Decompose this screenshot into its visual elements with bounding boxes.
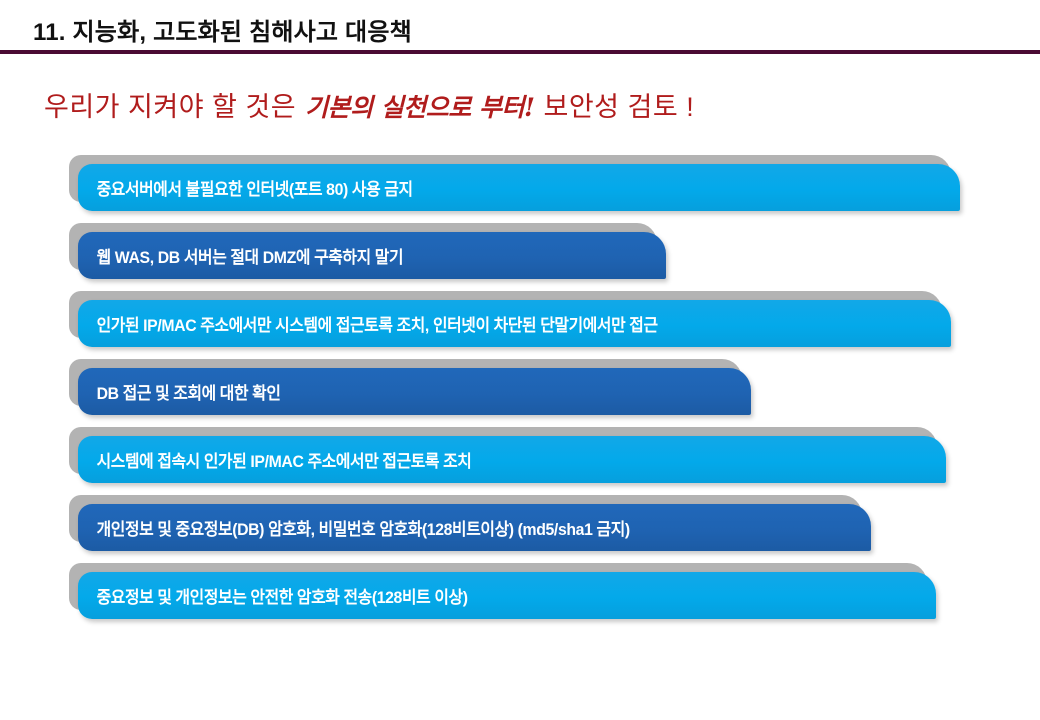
bullet-bar[interactable]: 인가된 IP/MAC 주소에서만 시스템에 접근토록 조치, 인터넷이 차단된 … (69, 291, 942, 349)
bullet-bar[interactable]: 중요정보 및 개인정보는 안전한 암호화 전송(128비트 이상) (69, 563, 927, 621)
bullet-bar[interactable]: DB 접근 및 조회에 대한 확인 (69, 359, 742, 417)
bullet-bar-body[interactable]: 웹 WAS, DB 서버는 절대 DMZ에 구축하지 말기 (78, 232, 666, 279)
bullet-bar[interactable]: 중요서버에서 불필요한 인터넷(포트 80) 사용 금지 (69, 155, 951, 213)
bullet-bar-body[interactable]: 중요서버에서 불필요한 인터넷(포트 80) 사용 금지 (78, 164, 960, 211)
bullet-bar-label: 중요정보 및 개인정보는 안전한 암호화 전송(128비트 이상) (78, 583, 482, 608)
bar-list: 중요서버에서 불필요한 인터넷(포트 80) 사용 금지웹 WAS, DB 서버… (0, 0, 1040, 720)
bullet-bar-label: 개인정보 및 중요정보(DB) 암호화, 비밀번호 암호화(128비트이상) (… (78, 515, 645, 540)
slide-canvas: 11. 지능화, 고도화된 침해사고 대응책 우리가 지켜야 할 것은 기본의 … (0, 0, 1040, 720)
bullet-bar-label: 시스템에 접속시 인가된 IP/MAC 주소에서만 접근토록 조치 (78, 447, 486, 472)
bullet-bar[interactable]: 개인정보 및 중요정보(DB) 암호화, 비밀번호 암호화(128비트이상) (… (69, 495, 862, 553)
bullet-bar-body[interactable]: 시스템에 접속시 인가된 IP/MAC 주소에서만 접근토록 조치 (78, 436, 946, 483)
bullet-bar-body[interactable]: 인가된 IP/MAC 주소에서만 시스템에 접근토록 조치, 인터넷이 차단된 … (78, 300, 951, 347)
bullet-bar-label: 웹 WAS, DB 서버는 절대 DMZ에 구축하지 말기 (78, 243, 418, 268)
bullet-bar-label: 인가된 IP/MAC 주소에서만 시스템에 접근토록 조치, 인터넷이 차단된 … (78, 311, 673, 336)
bullet-bar-body[interactable]: DB 접근 및 조회에 대한 확인 (78, 368, 751, 415)
bullet-bar-label: 중요서버에서 불필요한 인터넷(포트 80) 사용 금지 (78, 175, 428, 200)
bullet-bar[interactable]: 웹 WAS, DB 서버는 절대 DMZ에 구축하지 말기 (69, 223, 657, 281)
bullet-bar[interactable]: 시스템에 접속시 인가된 IP/MAC 주소에서만 접근토록 조치 (69, 427, 937, 485)
bullet-bar-label: DB 접근 및 조회에 대한 확인 (78, 379, 295, 404)
bullet-bar-body[interactable]: 중요정보 및 개인정보는 안전한 암호화 전송(128비트 이상) (78, 572, 936, 619)
bullet-bar-body[interactable]: 개인정보 및 중요정보(DB) 암호화, 비밀번호 암호화(128비트이상) (… (78, 504, 871, 551)
